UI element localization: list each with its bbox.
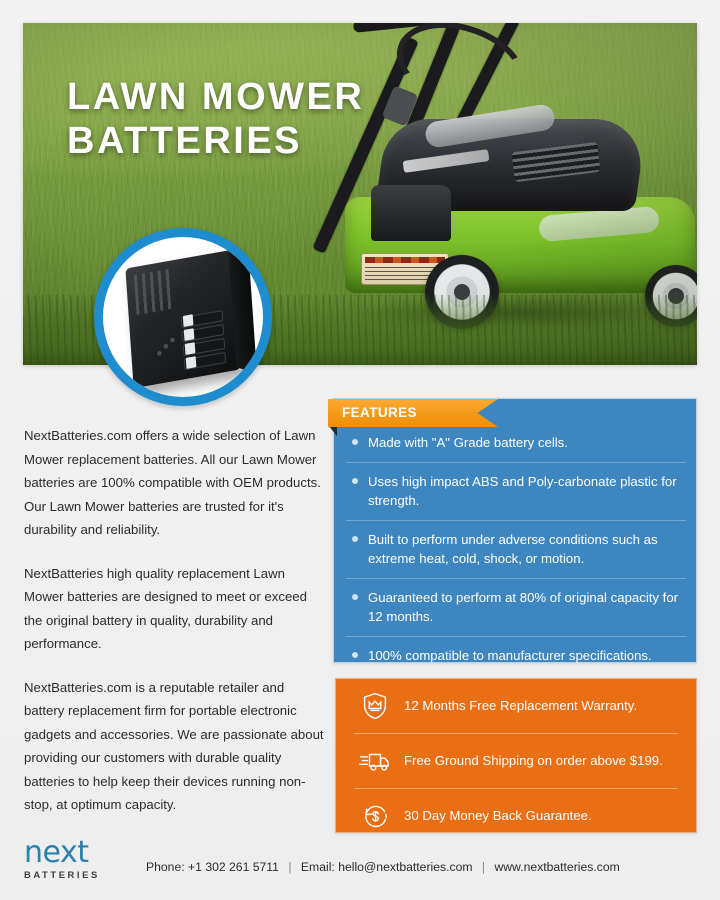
paragraph-2: NextBatteries high quality replacement L… (24, 562, 324, 656)
logo-wordmark: next (24, 838, 128, 868)
bullet-icon (352, 652, 358, 658)
bullet-icon (352, 439, 358, 445)
battery-side-face (228, 252, 257, 374)
features-list: Made with "A" Grade battery cells. Uses … (346, 424, 686, 674)
email-address[interactable]: hello@nextbatteries.com (338, 860, 472, 874)
battery-terminals (181, 309, 232, 373)
money-back-icon (354, 799, 396, 833)
bullet-icon (352, 536, 358, 542)
delivery-truck-icon (354, 744, 396, 778)
feature-item: 100% compatible to manufacturer specific… (346, 637, 686, 675)
footer: next BATTERIES Phone: +1 302 261 5711 | … (24, 838, 698, 882)
bullet-icon (352, 594, 358, 600)
contact-separator: | (282, 860, 297, 874)
benefit-item-warranty: 12 Months Free Replacement Warranty. (354, 679, 678, 734)
website-url[interactable]: www.nextbatteries.com (494, 860, 619, 874)
feature-text: Uses high impact ABS and Poly-carbonate … (368, 474, 677, 509)
feature-item: Uses high impact ABS and Poly-carbonate … (346, 463, 686, 521)
feature-item: Made with "A" Grade battery cells. (346, 424, 686, 463)
shield-crown-icon (354, 689, 396, 723)
feature-item: Built to perform under adverse condition… (346, 521, 686, 579)
benefit-text: 30 Day Money Back Guarantee. (396, 806, 592, 826)
battery-embossed-dots (154, 334, 182, 364)
feature-text: 100% compatible to manufacturer specific… (368, 648, 652, 663)
feature-text: Built to perform under adverse condition… (368, 532, 658, 567)
flyer-page: LAWN MOWER BATTERIES NextBatteries.com o… (0, 0, 720, 900)
contact-separator: | (476, 860, 491, 874)
logo-subtitle: BATTERIES (24, 869, 128, 880)
benefit-text: 12 Months Free Replacement Warranty. (396, 696, 637, 716)
email-label: Email: (301, 860, 335, 874)
paragraph-3: NextBatteries.com is a reputable retaile… (24, 676, 324, 817)
battery-circle-inset (94, 228, 272, 406)
contact-info: Phone: +1 302 261 5711 | Email: hello@ne… (146, 860, 620, 874)
feature-item: Guaranteed to perform at 80% of original… (346, 579, 686, 637)
phone-number[interactable]: +1 302 261 5711 (188, 860, 279, 874)
features-heading: FEATURES (342, 405, 417, 420)
benefit-item-money-back: 30 Day Money Back Guarantee. (354, 789, 678, 843)
bullet-icon (352, 478, 358, 484)
benefit-item-shipping: Free Ground Shipping on order above $199… (354, 734, 678, 789)
phone-label: Phone: (146, 860, 185, 874)
battery-product-image (125, 250, 240, 389)
description-copy: NextBatteries.com offers a wide selectio… (24, 424, 324, 817)
feature-text: Guaranteed to perform at 80% of original… (368, 590, 678, 625)
benefit-text: Free Ground Shipping on order above $199… (396, 751, 663, 771)
benefits-panel: 12 Months Free Replacement Warranty. Fre… (335, 678, 697, 833)
hero-title: LAWN MOWER BATTERIES (67, 75, 364, 163)
paragraph-1: NextBatteries.com offers a wide selectio… (24, 424, 324, 542)
feature-text: Made with "A" Grade battery cells. (368, 435, 568, 450)
brand-logo: next BATTERIES (24, 838, 128, 880)
features-ribbon: FEATURES (328, 399, 504, 427)
